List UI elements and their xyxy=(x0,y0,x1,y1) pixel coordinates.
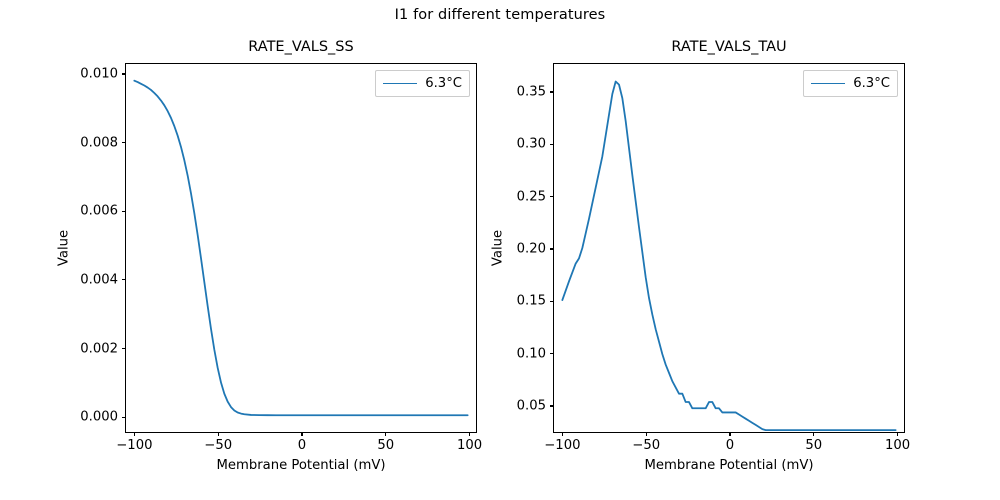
series-line xyxy=(134,81,467,416)
plot-area-right xyxy=(554,64,904,432)
y-tick-mark xyxy=(122,73,126,74)
y-tick-mark xyxy=(550,405,554,406)
y-tick-label: 0.20 xyxy=(517,242,546,257)
y-tick-label: 0.002 xyxy=(80,341,118,356)
figure-suptitle: I1 for different temperatures xyxy=(0,7,1000,23)
x-tick-label: 50 xyxy=(377,438,394,453)
matplotlib-figure: I1 for different temperatures RATE_VALS_… xyxy=(0,0,1000,500)
y-tick-label: 0.010 xyxy=(80,66,118,81)
y-tick-mark xyxy=(550,196,554,197)
y-tick-mark xyxy=(122,279,126,280)
x-tick-mark xyxy=(813,432,814,436)
y-tick-label: 0.05 xyxy=(517,398,546,413)
y-tick-mark xyxy=(550,248,554,249)
y-tick-label: 0.35 xyxy=(517,85,546,100)
x-tick-label: 100 xyxy=(457,438,482,453)
x-tick-label: 0 xyxy=(298,438,306,453)
ylabel-right: Value xyxy=(491,230,506,266)
x-tick-mark xyxy=(385,432,386,436)
y-tick-label: 0.15 xyxy=(517,294,546,309)
y-tick-mark xyxy=(550,353,554,354)
x-tick-mark xyxy=(134,432,135,436)
xlabel-right: Membrane Potential (mV) xyxy=(554,458,904,473)
legend-label: 6.3°C xyxy=(425,76,462,91)
y-tick-mark xyxy=(550,301,554,302)
y-tick-label: 0.008 xyxy=(80,135,118,150)
y-tick-label: 0.000 xyxy=(80,410,118,425)
axes-title-left: RATE_VALS_SS xyxy=(126,39,476,55)
y-tick-label: 0.30 xyxy=(517,137,546,152)
legend-label: 6.3°C xyxy=(853,76,890,91)
y-tick-mark xyxy=(122,211,126,212)
legend-left[interactable]: 6.3°C xyxy=(375,70,470,97)
x-tick-label: −100 xyxy=(116,438,152,453)
x-tick-label: 100 xyxy=(885,438,910,453)
y-tick-mark xyxy=(122,348,126,349)
series-line xyxy=(562,81,895,430)
x-tick-mark xyxy=(562,432,563,436)
ylabel-left: Value xyxy=(57,230,72,266)
y-tick-label: 0.10 xyxy=(517,346,546,361)
xlabel-left: Membrane Potential (mV) xyxy=(126,458,476,473)
x-tick-mark xyxy=(469,432,470,436)
x-tick-label: −100 xyxy=(544,438,580,453)
y-tick-mark xyxy=(550,91,554,92)
x-tick-label: −50 xyxy=(632,438,660,453)
y-tick-label: 0.25 xyxy=(517,189,546,204)
y-tick-mark xyxy=(122,417,126,418)
x-tick-mark xyxy=(218,432,219,436)
legend-line-swatch xyxy=(811,83,845,84)
x-tick-label: 50 xyxy=(805,438,822,453)
x-tick-mark xyxy=(646,432,647,436)
y-tick-mark xyxy=(122,142,126,143)
x-tick-mark xyxy=(729,432,730,436)
x-tick-label: 0 xyxy=(726,438,734,453)
y-tick-label: 0.004 xyxy=(80,272,118,287)
axes-title-right: RATE_VALS_TAU xyxy=(554,39,904,55)
axes-rate-vals-tau: RATE_VALS_TAU Value Membrane Potential (… xyxy=(553,63,905,433)
legend-right[interactable]: 6.3°C xyxy=(803,70,898,97)
y-tick-label: 0.006 xyxy=(80,204,118,219)
x-tick-label: −50 xyxy=(204,438,232,453)
plot-area-left xyxy=(126,64,476,432)
legend-line-swatch xyxy=(383,83,417,84)
x-tick-mark xyxy=(897,432,898,436)
y-tick-mark xyxy=(550,144,554,145)
axes-rate-vals-ss: RATE_VALS_SS Value Membrane Potential (m… xyxy=(125,63,477,433)
x-tick-mark xyxy=(301,432,302,436)
